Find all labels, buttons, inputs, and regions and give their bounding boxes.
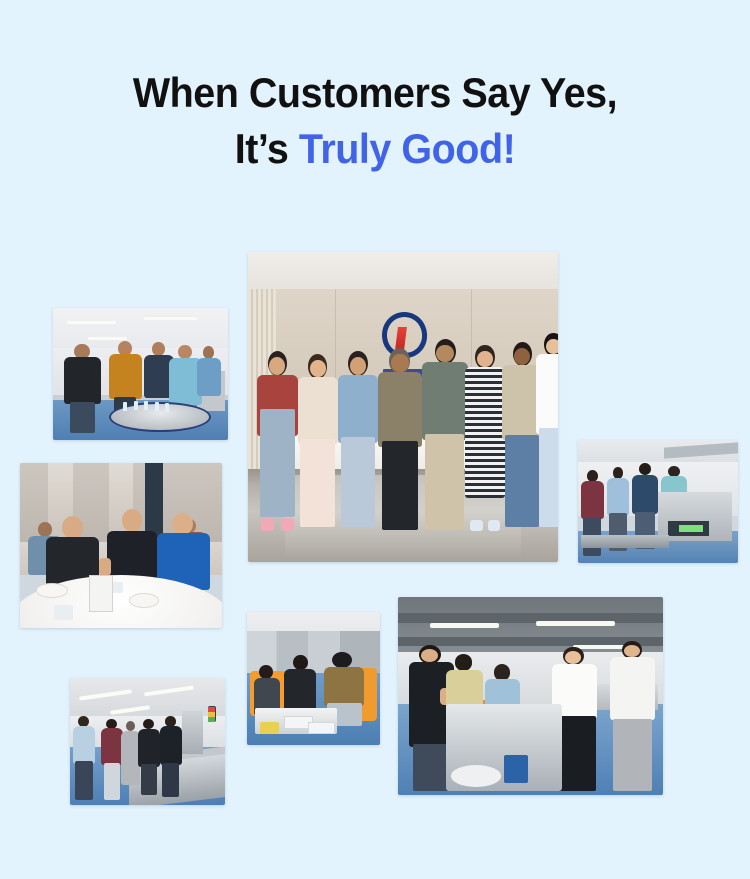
torso	[197, 358, 222, 396]
cap	[332, 652, 352, 668]
group-member	[378, 348, 421, 534]
face	[350, 357, 366, 375]
jeans	[341, 437, 375, 527]
legs	[70, 402, 95, 433]
conveyor-belt	[581, 535, 669, 549]
head	[122, 509, 142, 532]
ceiling	[248, 252, 558, 292]
teacup	[54, 605, 72, 620]
bottle	[123, 402, 127, 411]
head	[172, 513, 193, 535]
bottle	[144, 401, 148, 410]
head	[126, 721, 135, 731]
photo-scene	[70, 678, 225, 805]
photo-scene	[248, 252, 558, 562]
jeans	[505, 435, 539, 528]
photo-customers-viewing-labeling-machine[interactable]	[578, 440, 738, 563]
control-panel-display	[679, 525, 703, 532]
face	[514, 348, 530, 365]
shirt	[632, 475, 658, 515]
ceiling-lamp	[144, 317, 197, 320]
group-member	[536, 333, 558, 531]
face	[436, 345, 454, 363]
shirt	[160, 726, 182, 765]
photo-customers-dinner-banquet[interactable]	[20, 463, 222, 628]
shirt	[73, 726, 95, 764]
legs	[104, 763, 120, 800]
thumbs-up-hand	[99, 558, 111, 575]
photo-scene	[20, 463, 222, 628]
light-tube	[430, 623, 499, 628]
jacket	[324, 667, 364, 706]
top	[101, 728, 123, 765]
product-samples	[260, 722, 279, 734]
shirt	[138, 729, 160, 767]
head	[259, 665, 273, 679]
denim-shirt	[338, 375, 378, 443]
shirt	[607, 478, 629, 516]
top	[581, 481, 603, 520]
machine-motor	[504, 755, 528, 783]
head	[639, 463, 651, 475]
photo-meeting-lounge-discussion[interactable]	[247, 612, 380, 745]
head	[613, 467, 624, 479]
face	[546, 339, 558, 355]
top	[298, 377, 338, 444]
head	[143, 719, 154, 730]
sample-box	[308, 722, 335, 734]
photo-scene	[53, 308, 228, 440]
trousers	[539, 428, 558, 527]
head	[455, 654, 473, 670]
face	[310, 360, 326, 378]
group-member	[257, 351, 297, 531]
face	[624, 645, 640, 657]
visitor	[73, 716, 95, 800]
face	[391, 354, 408, 373]
group-member	[298, 354, 338, 531]
legs	[413, 744, 449, 791]
bottle	[165, 403, 169, 412]
head	[293, 655, 308, 671]
light-tube	[536, 621, 616, 626]
seated-person	[284, 655, 316, 716]
legs	[75, 761, 92, 800]
ceiling-lamp	[88, 337, 127, 340]
shirt	[610, 657, 655, 720]
ceiling-beam	[398, 613, 663, 623]
photo-factory-floor-discussion[interactable]	[398, 597, 663, 795]
torso	[109, 354, 142, 399]
photo-scene	[578, 440, 738, 563]
group-member	[338, 351, 378, 531]
capping-machine	[182, 711, 204, 754]
torso	[64, 357, 101, 404]
face	[269, 357, 285, 375]
photo-customers-inspecting-rotary-filling-machine[interactable]	[53, 308, 228, 440]
photo-scene	[247, 612, 380, 745]
legs	[162, 763, 178, 797]
person	[197, 346, 222, 409]
photo-collage	[0, 0, 750, 879]
signal-green-light	[208, 717, 215, 722]
legs	[141, 764, 157, 794]
visitor	[160, 716, 182, 797]
t-shirt	[536, 354, 558, 433]
signal-yellow-light	[208, 712, 215, 717]
denim-overalls	[260, 409, 295, 517]
visitor	[138, 719, 160, 795]
person	[64, 344, 103, 434]
photo-factory-tour-production-line[interactable]	[70, 678, 225, 805]
head	[587, 470, 598, 482]
bottle	[155, 402, 159, 411]
shoe	[281, 518, 295, 531]
bottle	[134, 401, 138, 410]
shoe	[470, 520, 483, 531]
signal-red-light	[208, 707, 215, 712]
trousers	[382, 441, 418, 530]
shoe	[261, 518, 275, 531]
photo-scene	[398, 597, 663, 795]
shirt	[422, 362, 469, 440]
photo-group-at-company-reception-logo-wall[interactable]	[248, 252, 558, 562]
shirt	[378, 372, 421, 446]
trousers	[613, 719, 653, 791]
visitor	[101, 719, 123, 800]
ceiling-lamp	[67, 321, 116, 324]
group-member	[465, 345, 505, 531]
shirt	[121, 731, 140, 785]
group-member	[422, 339, 469, 534]
trousers	[425, 434, 464, 530]
head	[62, 516, 83, 539]
striped-dress	[465, 367, 505, 497]
participant	[610, 641, 655, 791]
shoe	[488, 520, 501, 531]
trousers	[300, 439, 335, 527]
visitor	[121, 721, 140, 785]
table-card	[89, 575, 113, 611]
